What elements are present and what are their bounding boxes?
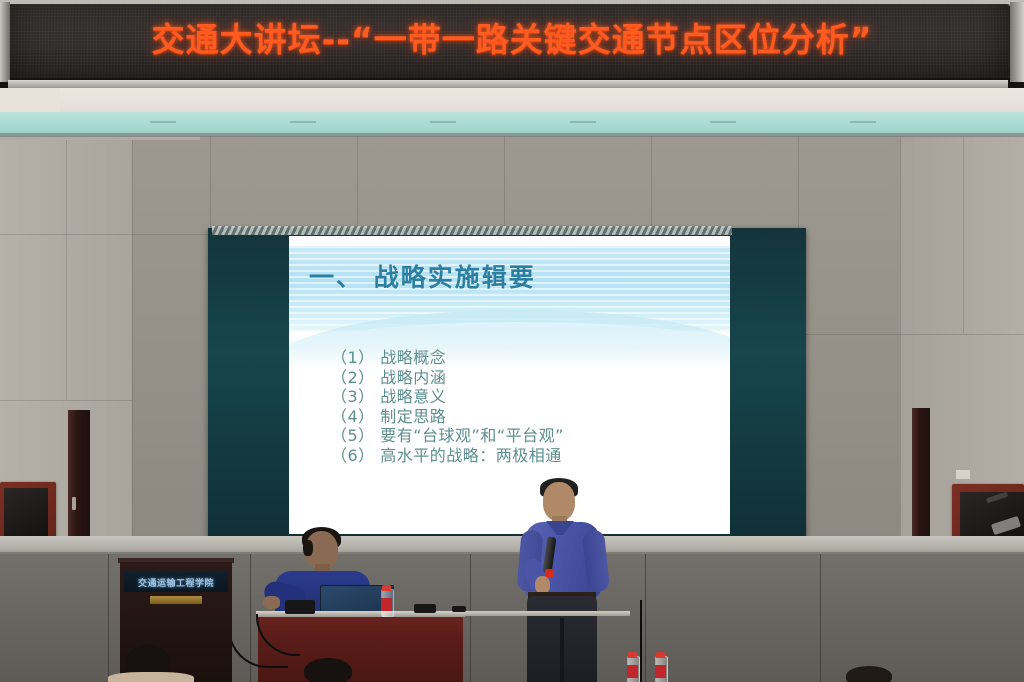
podium-nameplate-text: 交通运输工程学院 <box>138 576 214 589</box>
wall-seam <box>0 400 132 401</box>
presenter-leg-gap <box>560 618 564 682</box>
lower-wall-seam <box>820 554 821 682</box>
lecture-hall-scene: 一、 战略实施辑要 （1） 战略概念 （2） 战略内涵 （3） 战略意义 （4）… <box>0 0 1024 682</box>
slide-bullet: （5） 要有“台球观”和“平台观” <box>331 426 721 446</box>
podium-nameplate: 交通运输工程学院 <box>124 572 228 592</box>
bottle-label <box>655 665 666 678</box>
bottle-cap <box>656 652 665 658</box>
wall-seam <box>900 134 901 536</box>
presentation-slide: 一、 战略实施辑要 （1） 战略概念 （2） 战略内涵 （3） 战略意义 （4）… <box>289 236 730 534</box>
wall-seam <box>504 134 505 230</box>
slide-bullet: （4） 制定思路 <box>331 407 721 427</box>
bottle-cap <box>382 585 391 591</box>
bottle-label <box>381 598 392 611</box>
wall-seam <box>357 134 358 230</box>
bottle-label <box>627 665 638 678</box>
wall-fixture <box>956 470 970 479</box>
desk-equipment[interactable] <box>452 606 466 612</box>
soffit <box>0 86 1024 112</box>
slide-bullet: （1） 战略概念 <box>331 348 721 368</box>
audience-shoulders <box>108 672 194 682</box>
ceiling-light-strip <box>150 121 176 123</box>
lower-wall-seam <box>108 554 109 682</box>
screen-roller-bar <box>212 226 732 235</box>
wall-seam <box>806 334 1024 335</box>
led-frame-bottom <box>8 80 1008 88</box>
slide-bullet-list: （1） 战略概念 （2） 战略内涵 （3） 战略意义 （4） 制定思路 （5） … <box>331 348 721 465</box>
operator-hand <box>263 596 280 609</box>
soffit-left <box>0 86 60 112</box>
ceiling-light-strip <box>710 121 736 123</box>
audience-head <box>846 666 892 682</box>
slide-bullet: （6） 高水平的战略：两极相通 <box>331 446 721 466</box>
wall-seam <box>66 134 67 400</box>
ceiling-light-strip <box>430 121 456 123</box>
slide-title: 一、 战略实施辑要 <box>309 258 536 294</box>
door-handle-icon[interactable] <box>72 497 76 510</box>
wall-seam <box>651 134 652 230</box>
ceiling-light-strip <box>850 121 876 123</box>
wall-seam <box>963 134 964 334</box>
desk-equipment[interactable] <box>285 600 315 614</box>
wall-seam <box>210 134 211 234</box>
bottle-cap <box>628 652 637 658</box>
wall-seam <box>798 134 799 230</box>
audience-head <box>304 658 352 682</box>
slide-bullet: （2） 战略内涵 <box>331 368 721 388</box>
power-cable <box>640 600 656 682</box>
led-banner-text: 交通大讲坛--“一带一路关键交通节点区位分析” <box>0 6 1024 68</box>
slide-bullet: （3） 战略意义 <box>331 387 721 407</box>
ceiling-light-strip <box>290 121 316 123</box>
operator-sideburn <box>303 540 313 556</box>
ceiling-edge <box>0 133 1024 137</box>
ceiling-light-strip <box>570 121 596 123</box>
desk-equipment[interactable] <box>414 604 436 613</box>
wall-seam <box>0 234 210 235</box>
podium-emblem <box>150 596 202 604</box>
led-banner: 交通大讲坛--“一带一路关键交通节点区位分析” <box>0 0 1024 88</box>
lower-wall-seam <box>470 554 471 682</box>
